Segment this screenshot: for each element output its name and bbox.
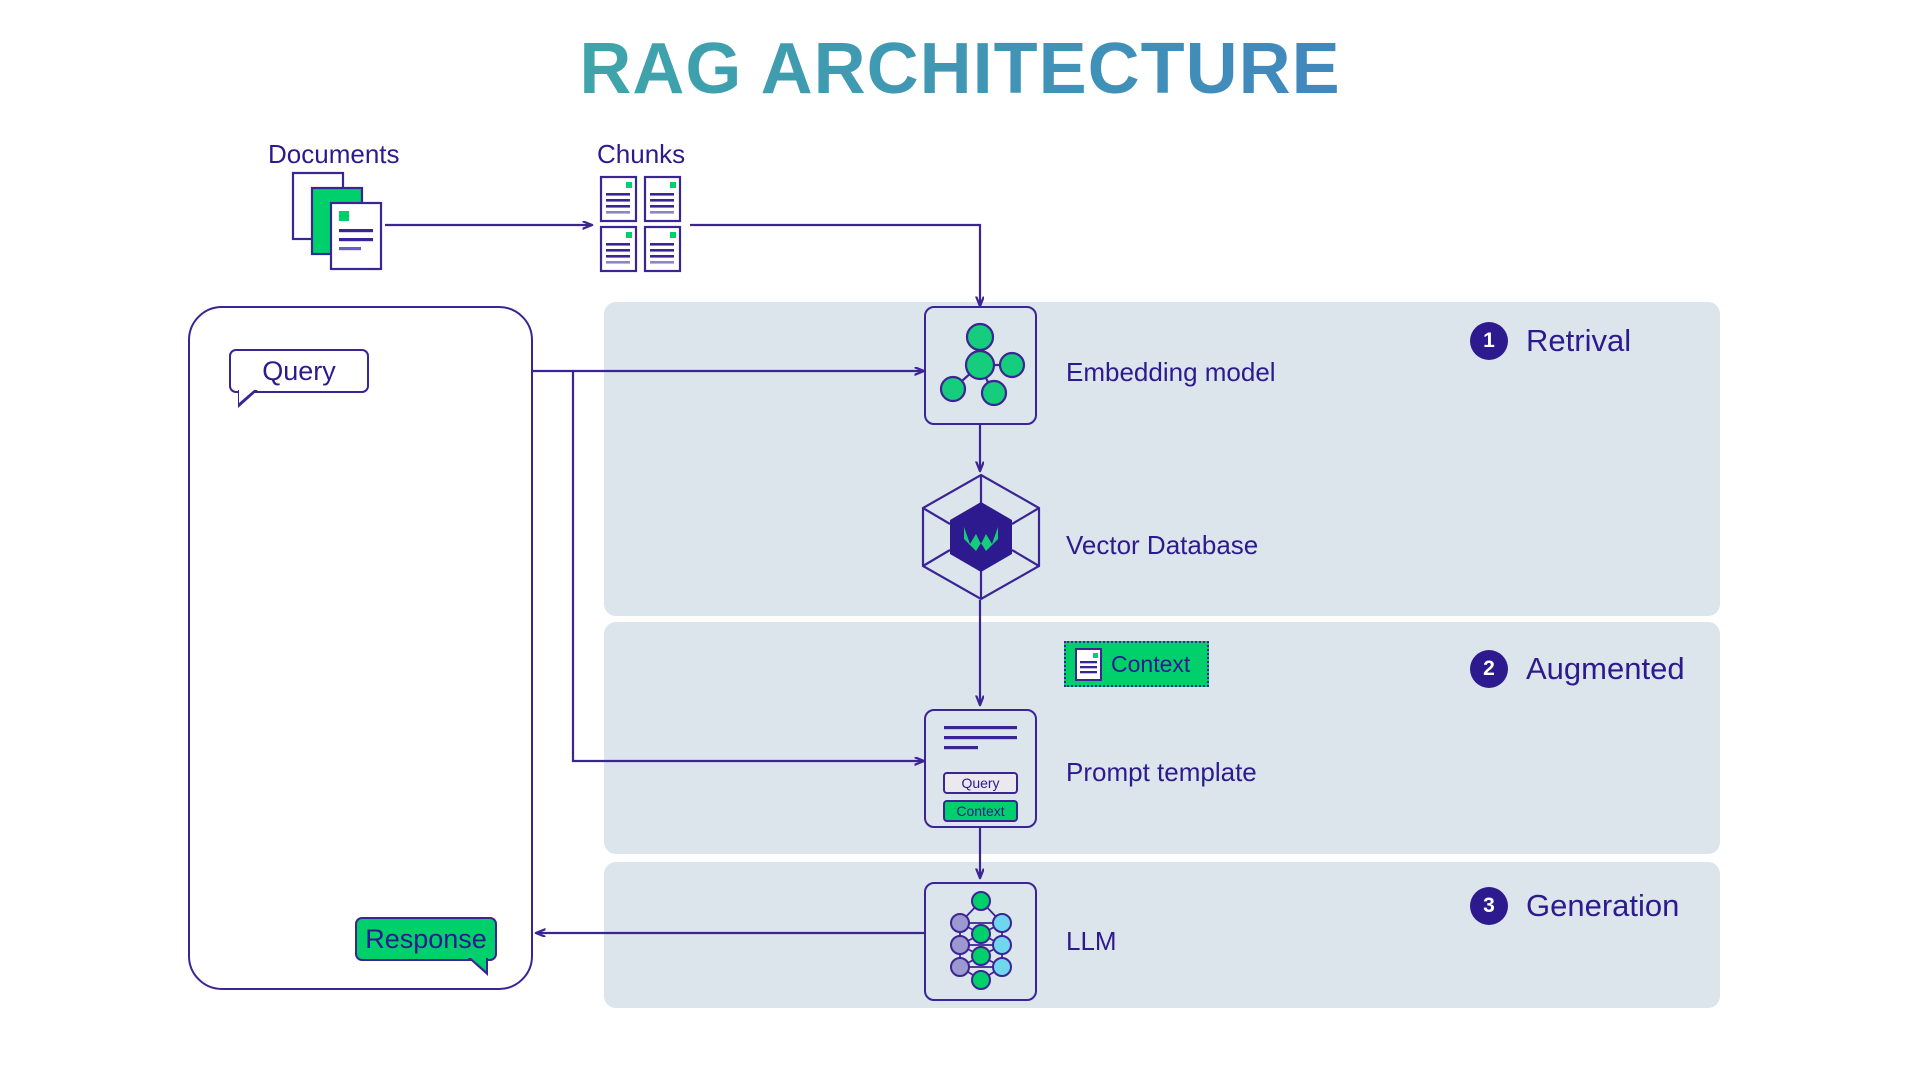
prompt-template-label: Prompt template [1066,757,1257,788]
query-bubble[interactable]: Query [229,349,369,393]
diagram-canvas: RAG ARCHITECTURE Documents [0,0,1920,1080]
query-bubble-label: Query [262,356,336,387]
llm-label: LLM [1066,926,1117,957]
embedding-network-icon [926,308,1035,423]
step-label-3: Generation [1526,888,1679,924]
response-bubble[interactable]: Response [355,917,497,961]
vector-database-label: Vector Database [1066,530,1258,561]
step-number-3: 3 [1470,887,1508,925]
documents-icon [292,172,388,264]
step-number-1: 1 [1470,322,1508,360]
prompt-context-pill-label: Context [956,803,1004,819]
prompt-context-pill: Context [943,800,1018,822]
llm-neural-network-icon [926,884,1035,999]
response-bubble-label: Response [365,924,487,955]
prompt-query-pill-label: Query [961,775,999,791]
prompt-query-pill: Query [943,772,1018,794]
embedding-model-node[interactable] [924,306,1037,425]
step-badge-retrieval: 1 Retrival [1470,322,1631,360]
vector-database-icon[interactable] [920,473,1044,601]
embedding-model-label: Embedding model [1066,357,1276,388]
context-document-icon [1075,648,1102,681]
documents-label: Documents [268,139,400,170]
step-number-2: 2 [1470,650,1508,688]
step-label-1: Retrival [1526,323,1631,359]
llm-node[interactable] [924,882,1037,1001]
prompt-template-lines-icon [926,711,1035,761]
step-badge-augmented: 2 Augmented [1470,650,1685,688]
step-badge-generation: 3 Generation [1470,887,1679,925]
prompt-template-node[interactable]: Query Context [924,709,1037,828]
chunks-icon [600,176,696,268]
chat-device-frame [188,306,533,990]
step-label-2: Augmented [1526,651,1685,687]
chunks-label: Chunks [597,139,685,170]
context-chip-label: Context [1111,651,1190,678]
context-chip[interactable]: Context [1064,641,1209,687]
